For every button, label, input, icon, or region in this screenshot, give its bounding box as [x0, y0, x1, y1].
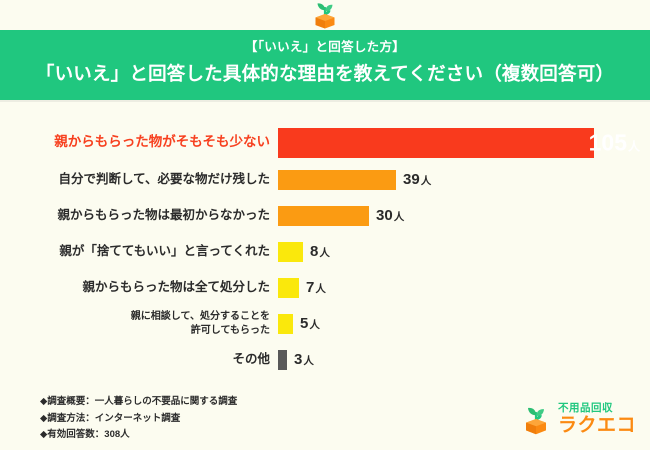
bar-chart: 親からもらった物がそもそも少ない 105人 自分で判断して、必要な物だけ残した …	[0, 102, 650, 378]
bar	[278, 350, 287, 370]
survey-note-responses: ◆有効回答数：308人	[40, 427, 237, 444]
bar-label: 自分で判断して、必要な物だけ残した	[0, 171, 278, 188]
bar-area: 8人	[278, 234, 650, 270]
bar-area: 39人	[278, 162, 650, 198]
bar-label: その他	[0, 351, 278, 368]
bar-value: 8人	[310, 243, 330, 260]
bar-area: 30人	[278, 198, 650, 234]
bar	[278, 314, 293, 334]
page-title: 「いいえ」と回答した具体的な理由を教えてください（複数回答可）	[0, 60, 650, 88]
bar-value: 39人	[403, 171, 431, 188]
bar-value: 3人	[294, 351, 314, 368]
bar-label: 親に相談して、処分することを 許可してもらった	[0, 310, 278, 337]
chart-row: 親が「捨ててもいい」と言ってくれた 8人	[0, 234, 650, 270]
chart-row: 自分で判断して、必要な物だけ残した 39人	[0, 162, 650, 198]
bar: 105人	[278, 128, 594, 158]
survey-note-overview: ◆調査概要：一人暮らしの不要品に関する調査	[40, 394, 237, 411]
bar-area: 7人	[278, 270, 650, 306]
bar-value: 30人	[376, 207, 404, 224]
chart-row: 親に相談して、処分することを 許可してもらった 5人	[0, 306, 650, 342]
bar-label: 親からもらった物は最初からなかった	[0, 207, 278, 224]
bar-label: 親からもらった物がそもそも少ない	[0, 133, 278, 151]
sprout-in-box-icon	[519, 402, 553, 436]
bar-value: 7人	[306, 279, 326, 296]
chart-row: 親からもらった物は全て処分した 7人	[0, 270, 650, 306]
bar	[278, 242, 303, 262]
header-subtitle: 【「いいえ」と回答した方】	[0, 38, 650, 57]
bar-area: 3人	[278, 342, 650, 378]
survey-notes: ◆調査概要：一人暮らしの不要品に関する調査 ◆調査方法：インターネット調査 ◆有…	[40, 394, 237, 444]
bar	[278, 278, 299, 298]
brand-logo[interactable]: 不用品回収 ラクエコ	[519, 402, 636, 436]
brand-category: 不用品回収	[558, 403, 636, 414]
top-logo-area	[0, 0, 650, 30]
bar	[278, 170, 396, 190]
brand-name: ラクエコ	[558, 416, 636, 435]
chart-row: 親からもらった物がそもそも少ない 105人	[0, 124, 650, 162]
bar	[278, 206, 369, 226]
bar-area: 5人	[278, 306, 650, 342]
bar-area: 105人	[278, 124, 650, 162]
bar-label: 親が「捨ててもいい」と言ってくれた	[0, 243, 278, 260]
sprout-in-box-icon	[308, 0, 342, 30]
chart-row: 親からもらった物は最初からなかった 30人	[0, 198, 650, 234]
brand-wordmark: 不用品回収 ラクエコ	[558, 403, 636, 435]
survey-note-method: ◆調査方法：インターネット調査	[40, 411, 237, 428]
footer: ◆調査概要：一人暮らしの不要品に関する調査 ◆調査方法：インターネット調査 ◆有…	[0, 388, 650, 450]
bar-value: 105人	[589, 129, 640, 156]
bar-value: 5人	[300, 315, 320, 332]
chart-row: その他 3人	[0, 342, 650, 378]
header-banner: 【「いいえ」と回答した方】 「いいえ」と回答した具体的な理由を教えてください（複…	[0, 30, 650, 102]
bar-label: 親からもらった物は全て処分した	[0, 279, 278, 296]
